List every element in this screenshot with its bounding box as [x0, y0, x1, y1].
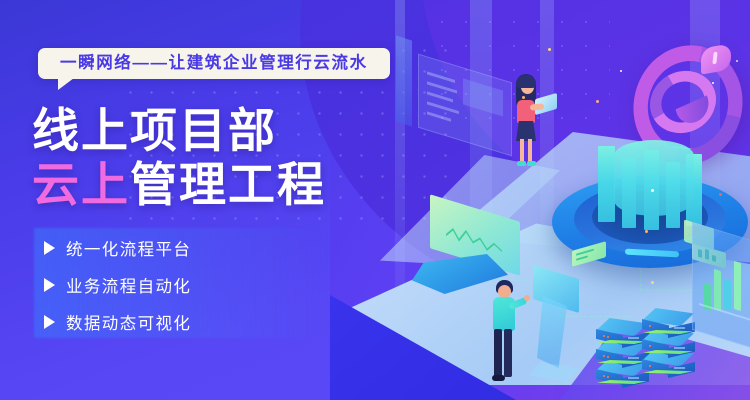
shoe	[517, 161, 526, 166]
bar-chart-panel	[692, 232, 750, 340]
server-vent	[628, 377, 639, 379]
sparkle-dot	[719, 193, 722, 196]
sparkle-dot	[596, 100, 599, 103]
server-vent	[628, 357, 639, 359]
bullet-label: 统一化流程平台	[66, 236, 191, 260]
hair-front	[516, 75, 536, 88]
sparkle-dot	[651, 189, 654, 192]
hub-card-line	[576, 249, 594, 256]
letter-e-logo	[625, 40, 733, 150]
wireframe-line	[427, 111, 451, 121]
server-indicator	[607, 336, 609, 338]
server-indicator	[603, 375, 605, 377]
wireframe-line	[427, 71, 455, 83]
headline-line-2: 云上管理工程	[32, 158, 326, 212]
hub-cylinder	[614, 140, 694, 216]
triangle-bullet-icon	[44, 315, 55, 329]
feature-bullet-list: 统一化流程平台 业务流程自动化 数据动态可视化	[44, 236, 191, 347]
tagline-container: 一瞬网络——让建筑企业管理行云流水	[38, 48, 390, 79]
tagline-text: 一瞬网络——让建筑企业管理行云流水	[60, 55, 368, 72]
server-indicator	[649, 365, 651, 367]
sparkle-dot	[522, 96, 525, 99]
background-shard	[396, 35, 412, 126]
skirt	[516, 121, 536, 141]
promo-banner: 一瞬网络——让建筑企业管理行云流水 线上项目部 云上管理工程 统一化流程平台 业…	[0, 0, 750, 400]
shoe	[492, 375, 505, 381]
server-vent	[674, 327, 685, 329]
triangle-bullet-icon	[44, 241, 55, 255]
hub-card-line	[576, 255, 588, 260]
leg	[528, 139, 532, 163]
chart-bar	[724, 279, 731, 311]
list-item: 统一化流程平台	[44, 236, 191, 260]
chart-bar	[714, 269, 721, 311]
sparkle-dot	[645, 230, 648, 233]
headline-line-1: 线上项目部	[32, 104, 326, 158]
shoe	[527, 161, 536, 166]
sparkle-dot	[620, 70, 622, 72]
headline-accent-text: 云上	[32, 158, 130, 211]
triangle-bullet-icon	[44, 278, 55, 292]
kiosk-body	[537, 296, 567, 368]
server-indicator	[603, 335, 605, 337]
bullet-label: 数据动态可视化	[66, 310, 191, 334]
bullet-label: 业务流程自动化	[66, 273, 191, 297]
hand	[524, 295, 530, 301]
server-indicator	[603, 355, 605, 357]
man-at-kiosk	[488, 280, 540, 390]
server-indicator	[607, 376, 609, 378]
leg	[520, 139, 524, 163]
server-unit	[596, 318, 648, 340]
list-item: 数据动态可视化	[44, 310, 191, 334]
tagline-bubble: 一瞬网络——让建筑企业管理行云流水	[38, 48, 390, 79]
server-indicator	[649, 325, 651, 327]
list-item: 业务流程自动化	[44, 273, 191, 297]
sparkle-dot	[651, 281, 654, 284]
wireframe-screen	[418, 54, 512, 157]
woman-with-tablet	[505, 74, 551, 170]
server-vent	[628, 337, 639, 339]
server-unit	[642, 308, 694, 330]
wireframe-line	[427, 91, 453, 102]
hub-tower	[598, 146, 615, 222]
leg	[494, 329, 502, 377]
wireframe-line	[427, 81, 457, 93]
chart-bar	[734, 261, 741, 311]
server-vent	[674, 367, 685, 369]
sparkle-dot	[548, 48, 551, 51]
leg	[504, 329, 512, 377]
headline-block: 线上项目部 云上管理工程	[32, 104, 326, 211]
server-indicator	[607, 356, 609, 358]
server-vent	[674, 347, 685, 349]
sparkle-dot	[712, 82, 714, 84]
tagline-bubble-tail	[58, 78, 74, 90]
server-indicator	[649, 345, 651, 347]
wireframe-block	[463, 78, 503, 116]
headline-rest-text: 管理工程	[130, 158, 326, 211]
chart-panel-background	[692, 222, 750, 350]
sparkle-dot	[736, 60, 738, 62]
